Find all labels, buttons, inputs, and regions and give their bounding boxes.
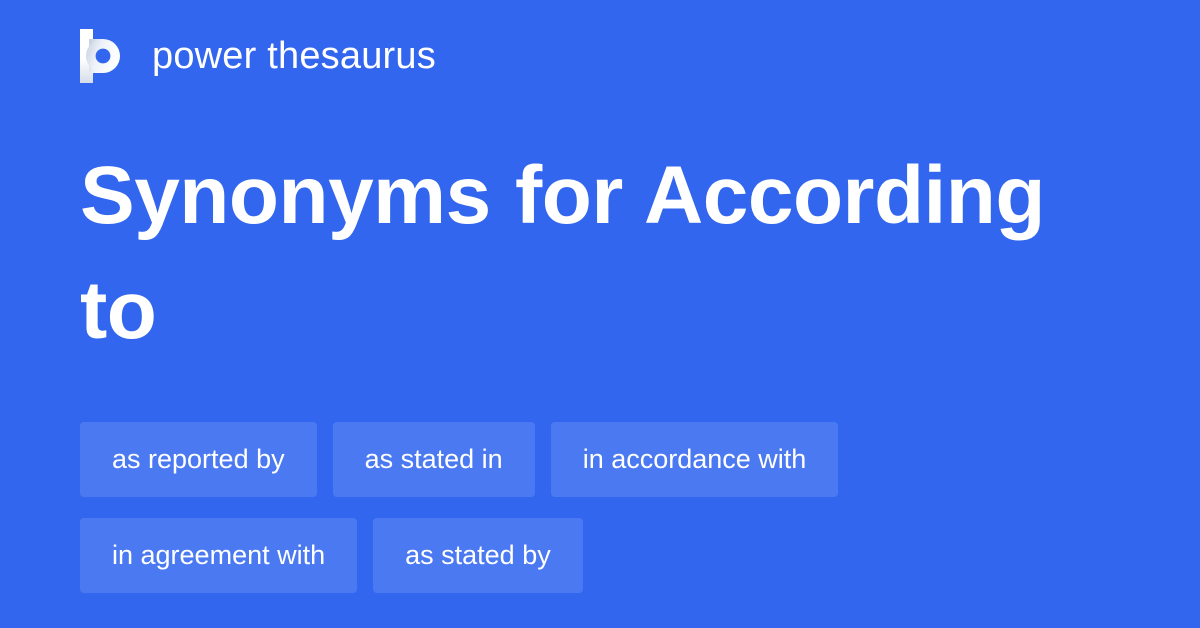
brand-header[interactable]: power thesaurus — [80, 26, 436, 86]
og-card-root: power thesaurus Synonyms for According t… — [0, 0, 1200, 628]
synonym-chip[interactable]: as reported by — [80, 422, 317, 497]
page-title: Synonyms for According to — [80, 138, 1090, 368]
synonym-chip[interactable]: as stated by — [373, 518, 583, 593]
power-thesaurus-b-logo-icon — [80, 29, 128, 83]
synonym-chip[interactable]: in agreement with — [80, 518, 357, 593]
brand-name: power thesaurus — [152, 37, 436, 75]
synonym-chip[interactable]: in accordance with — [551, 422, 839, 497]
synonym-chip[interactable]: as stated in — [333, 422, 535, 497]
synonym-chip-list: as reported by as stated in in accordanc… — [80, 422, 1120, 593]
